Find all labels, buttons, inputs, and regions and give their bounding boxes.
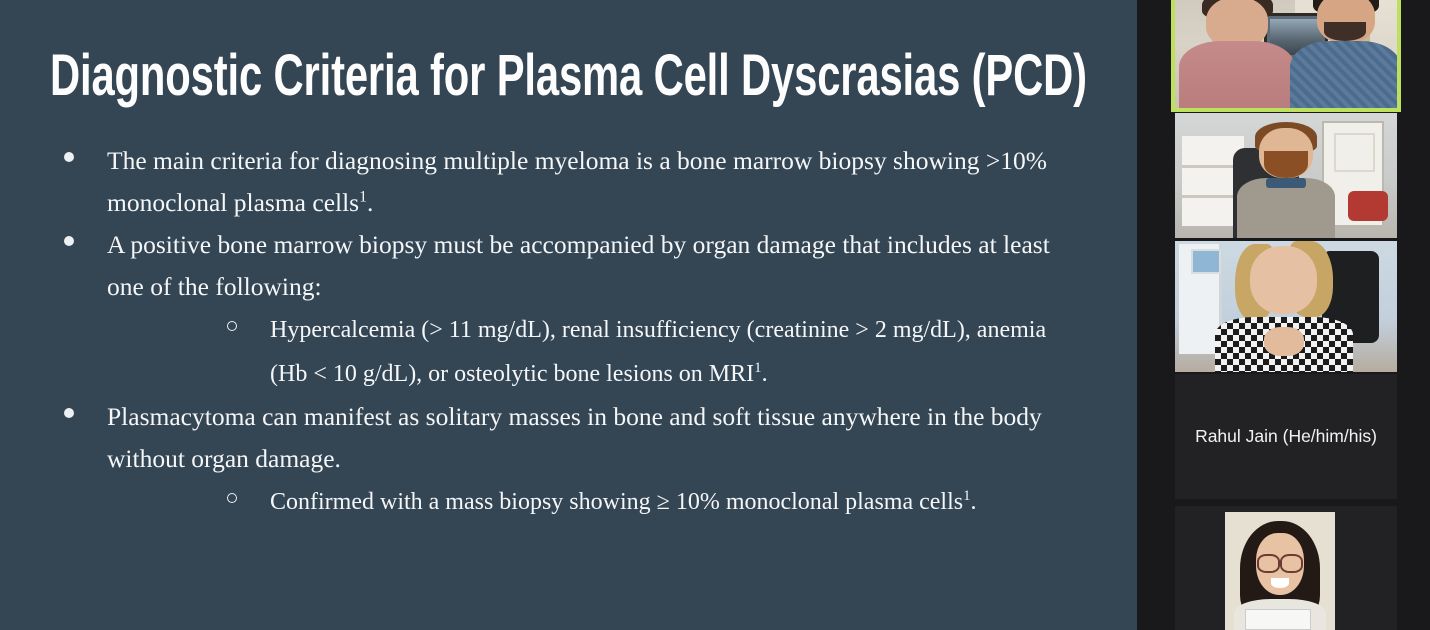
video-feed [1175, 0, 1397, 108]
disc-bullet-icon [64, 152, 74, 162]
circle-bullet-icon [227, 321, 237, 331]
shared-slide: Diagnostic Criteria for Plasma Cell Dysc… [0, 0, 1137, 630]
slide-body: The main criteria for diagnosing multipl… [0, 140, 1137, 524]
bullet-list: The main criteria for diagnosing multipl… [0, 140, 1137, 524]
list-item: Hypercalcemia (> 11 mg/dL), renal insuff… [107, 308, 1137, 396]
bullet-text: Hypercalcemia (> 11 mg/dL), renal insuff… [270, 308, 1137, 396]
video-frame-bearded-man [1175, 113, 1397, 238]
participant-name-label: Rahul Jain (He/him/his) [1175, 374, 1397, 499]
circle-bullet-icon [227, 493, 237, 503]
participant-tile-3[interactable] [1175, 241, 1397, 372]
sub-bullet-list: Hypercalcemia (> 11 mg/dL), renal insuff… [107, 308, 1137, 396]
avatar [1225, 512, 1335, 630]
page-title: Diagnostic Criteria for Plasma Cell Dysc… [50, 44, 1087, 108]
bullet-text: Plasmacytoma can manifest as solitary ma… [107, 396, 1137, 480]
bullet-text: The main criteria for diagnosing multipl… [107, 140, 1137, 224]
participant-tile-2[interactable] [1175, 113, 1397, 238]
disc-bullet-icon [64, 408, 74, 418]
participant-video-rail[interactable]: Rahul Jain (He/him/his) [1137, 0, 1430, 630]
footnote-marker: 1 [963, 488, 970, 504]
glasses-icon [1257, 554, 1303, 568]
participant-tile-1[interactable] [1171, 0, 1401, 112]
participant-tile-5[interactable] [1175, 506, 1397, 630]
bullet-trailing: . [762, 361, 768, 387]
bullet-text: Confirmed with a mass biopsy showing ≥ 1… [270, 480, 1137, 524]
bullet-trailing: . [367, 188, 373, 217]
video-frame-two-people [1175, 0, 1397, 108]
footnote-marker: 1 [359, 189, 367, 206]
bullet-trailing: . [971, 489, 977, 515]
screen-share-meeting-view: Diagnostic Criteria for Plasma Cell Dysc… [0, 0, 1430, 630]
sub-bullet-list: Confirmed with a mass biopsy showing ≥ 1… [107, 480, 1137, 524]
list-item: A positive bone marrow biopsy must be ac… [0, 224, 1137, 396]
participant-tile-4[interactable]: Rahul Jain (He/him/his) [1175, 374, 1397, 499]
video-frame-blonde-woman [1175, 241, 1397, 372]
disc-bullet-icon [64, 236, 74, 246]
footnote-marker: 1 [754, 360, 761, 376]
profile-photo [1225, 512, 1335, 630]
video-feed [1175, 241, 1397, 372]
video-feed [1175, 113, 1397, 238]
list-item: Confirmed with a mass biopsy showing ≥ 1… [107, 480, 1137, 524]
list-item: Plasmacytoma can manifest as solitary ma… [0, 396, 1137, 524]
bullet-text: A positive bone marrow biopsy must be ac… [107, 224, 1137, 308]
list-item: The main criteria for diagnosing multipl… [0, 140, 1137, 224]
